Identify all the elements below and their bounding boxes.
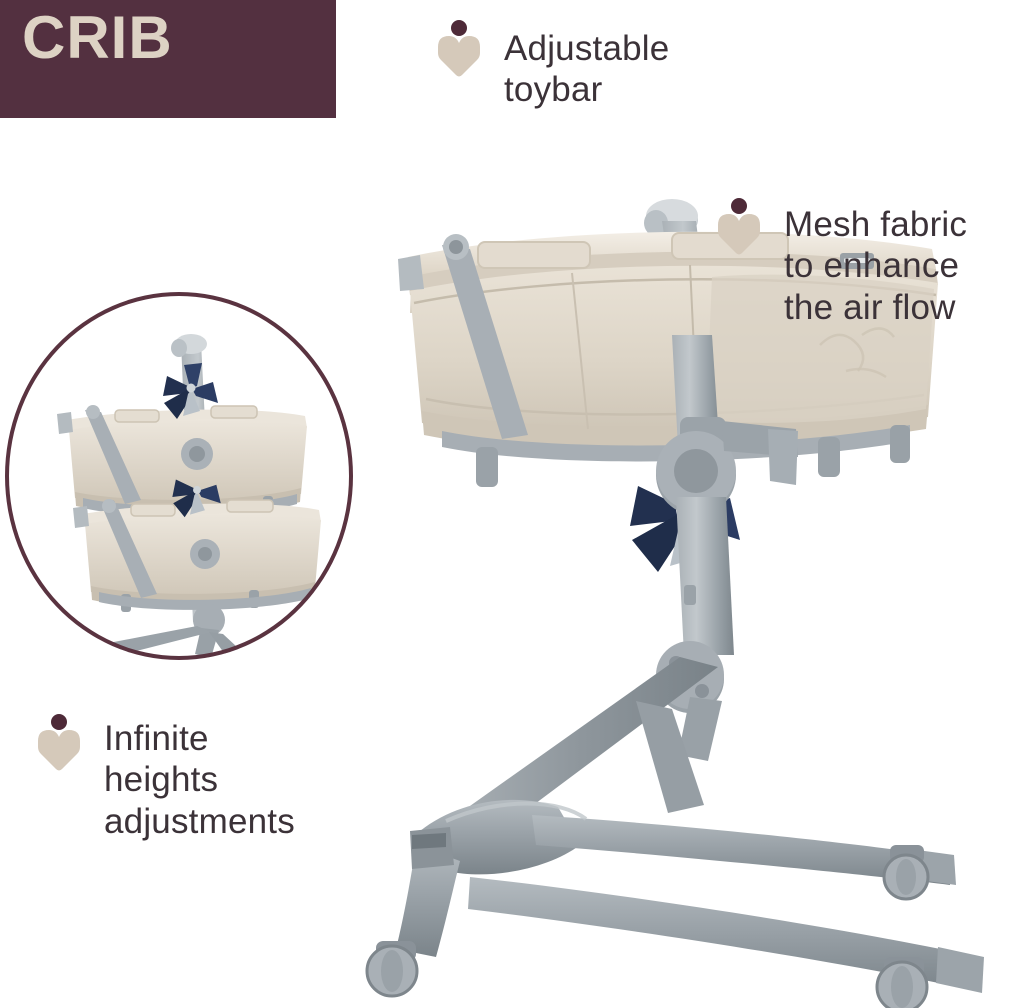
caster-wheel-side <box>877 957 927 1008</box>
infographic-canvas: CRIB Adjustable toybar Mesh fabric to en… <box>0 0 1023 1008</box>
wheeled-base <box>367 800 984 1008</box>
inset-ring <box>5 292 353 660</box>
category-banner: CRIB <box>0 0 336 118</box>
callout-adjustable-toybar: Adjustable toybar <box>428 18 669 111</box>
callout-mesh-fabric: Mesh fabric to enhance the air flow <box>708 196 967 328</box>
page-title: CRIB <box>22 6 173 69</box>
baby-badge-icon <box>428 18 490 80</box>
caster-wheel-rear <box>884 845 928 899</box>
callout-label: Mesh fabric to enhance the air flow <box>784 204 967 328</box>
callout-label: Infinite heights adjustments <box>104 718 295 842</box>
baby-badge-icon <box>708 196 770 258</box>
caster-wheel-front <box>367 941 417 996</box>
baby-badge-icon <box>28 712 90 774</box>
fabric-handle-left <box>478 242 590 268</box>
callout-label: Adjustable toybar <box>504 28 669 111</box>
callout-infinite-heights: Infinite heights adjustments <box>28 712 295 842</box>
